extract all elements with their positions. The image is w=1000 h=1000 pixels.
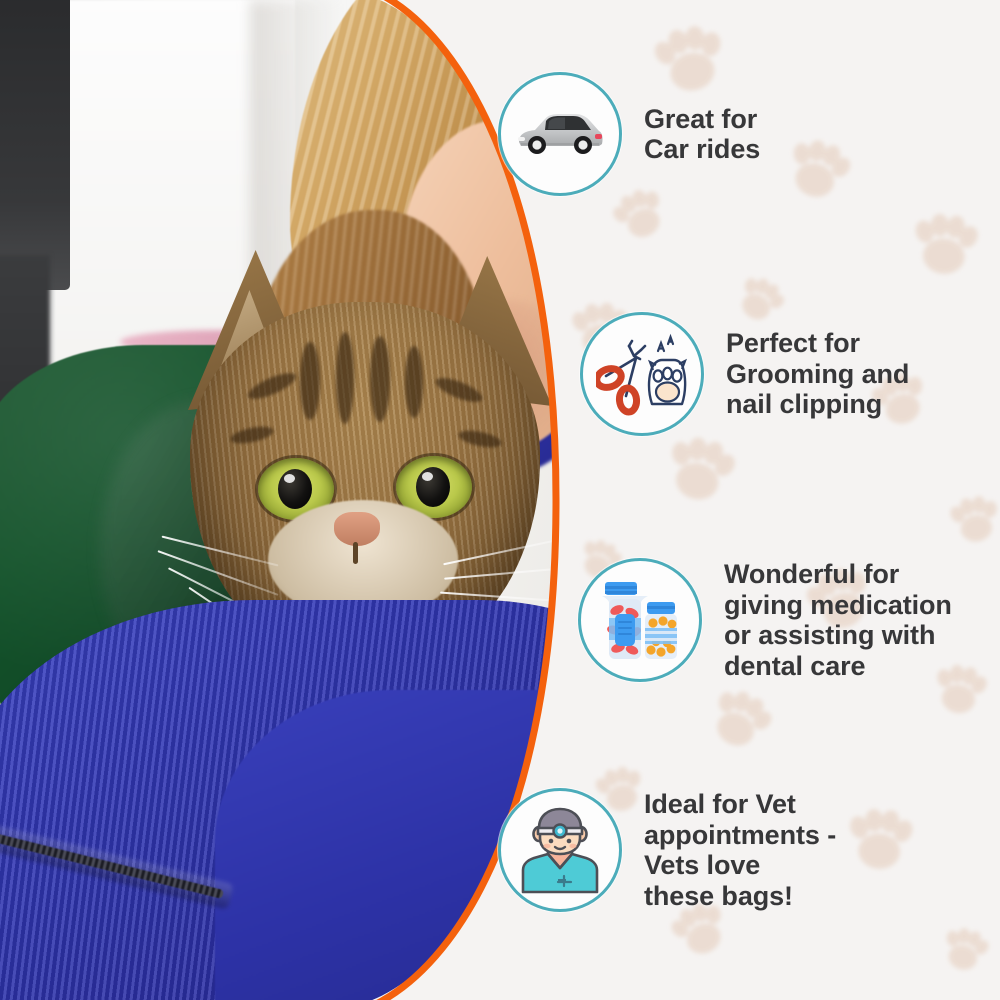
- feature-vet-appointments: Ideal for Vet appointments - Vets love t…: [498, 788, 836, 912]
- feature-label: Perfect for Grooming and nail clipping: [726, 328, 909, 420]
- feature-car-rides: Great for Car rides: [498, 72, 760, 196]
- feature-label: Great for Car rides: [644, 104, 760, 165]
- infographic-canvas: Great for Car rides: [0, 0, 1000, 1000]
- feature-icon-container: [498, 72, 622, 196]
- feature-icon-container: [580, 312, 704, 436]
- feature-label: Wonderful for giving medication or assis…: [724, 559, 952, 681]
- feature-icon-container: [498, 788, 622, 912]
- feature-grooming: Perfect for Grooming and nail clipping: [580, 312, 909, 436]
- feature-icon-container: [578, 558, 702, 682]
- feature-label: Ideal for Vet appointments - Vets love t…: [644, 789, 836, 911]
- pill-bottles-icon: [593, 578, 687, 662]
- veterinarian-icon: [514, 806, 606, 894]
- feature-medication: Wonderful for giving medication or assis…: [578, 558, 952, 682]
- nail-clippers-paw-icon: [596, 332, 688, 416]
- car-icon: [515, 106, 605, 162]
